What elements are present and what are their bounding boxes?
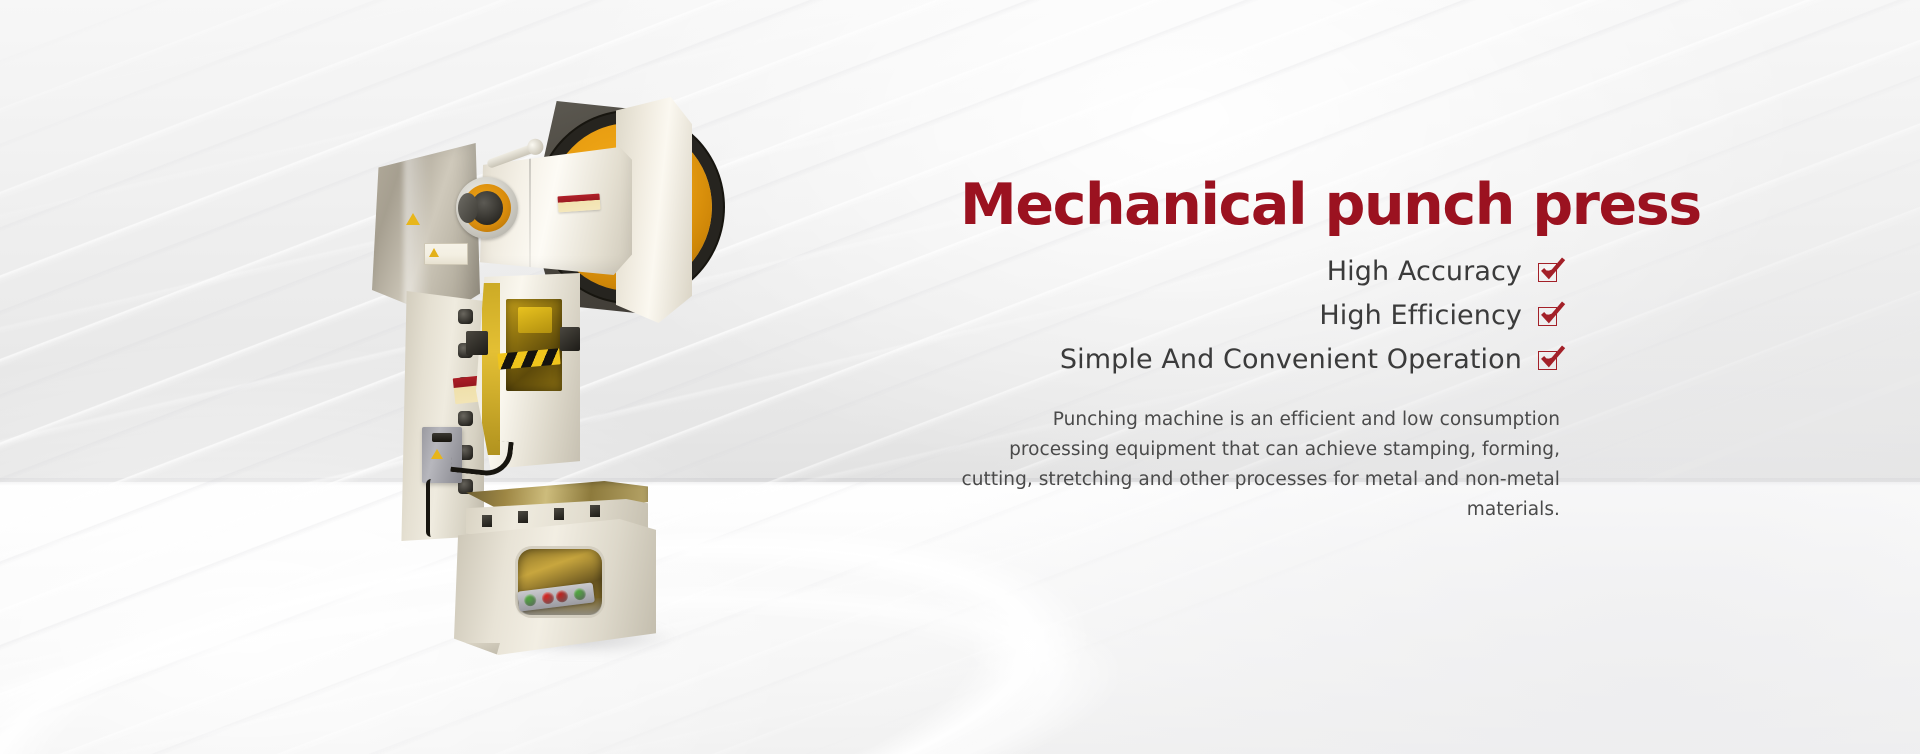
rocker-knob [525, 137, 546, 158]
clutch-cap [458, 193, 478, 223]
operator-button [524, 593, 537, 606]
operator-button [555, 590, 568, 603]
ram-yellow-block [518, 307, 552, 333]
power-cable [450, 436, 513, 478]
ram-clamp-left [466, 331, 488, 355]
table-t-slot-clamp [554, 508, 564, 520]
punch-press-image [380, 95, 780, 675]
hazard-triangle-icon [406, 213, 420, 225]
check-icon [1538, 349, 1560, 371]
feature-label: High Efficiency [1319, 300, 1522, 331]
feature-item: High Efficiency [960, 300, 1560, 331]
column-bolt [458, 309, 473, 324]
ram-clamp-right [560, 327, 580, 351]
feature-item: Simple And Convenient Operation [960, 344, 1560, 375]
power-cable-lower [426, 479, 436, 537]
check-icon [1538, 305, 1560, 327]
feature-label: Simple And Convenient Operation [1060, 344, 1522, 375]
table-t-slot-clamp [518, 511, 528, 523]
page-title: Mechanical punch press [960, 176, 1560, 234]
column-bolt [458, 411, 473, 426]
product-banner: Mechanical punch press High AccuracyHigh… [0, 0, 1920, 754]
banner-text-content: Mechanical punch press High AccuracyHigh… [960, 176, 1560, 525]
warning-sticker-red [557, 194, 600, 213]
product-description: Punching machine is an efficient and low… [960, 405, 1560, 525]
guard-highlight [404, 154, 430, 315]
clutch-brake-assembly [456, 177, 518, 239]
ebox-hazard-icon [431, 449, 443, 459]
feature-list: High AccuracyHigh EfficiencySimple And C… [960, 256, 1560, 375]
table-t-slot-clamp [590, 505, 600, 517]
operator-button [573, 587, 586, 600]
feature-label: High Accuracy [1327, 256, 1522, 287]
table-t-slot-clamp [482, 515, 492, 527]
check-icon [1538, 261, 1560, 283]
machine-column [398, 291, 484, 541]
warning-label-plate [424, 243, 468, 265]
left-guard-cover [372, 143, 480, 318]
ebox-switch [432, 433, 452, 442]
ram-guideway [482, 283, 500, 455]
feature-item: High Accuracy [960, 256, 1560, 287]
operator-button [541, 591, 554, 604]
crown-panel-seam [529, 150, 531, 273]
